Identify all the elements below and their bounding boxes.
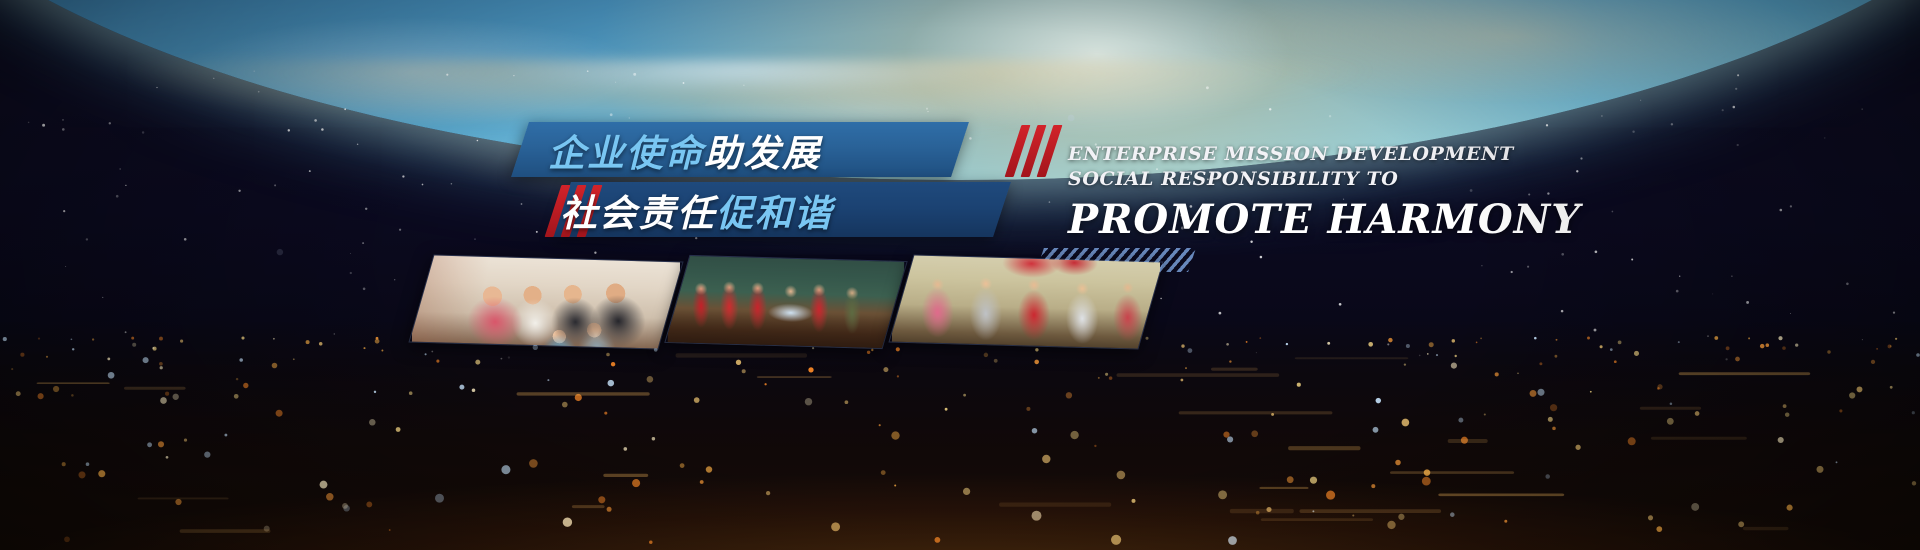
- headline-cn2-white: 社会责任: [560, 183, 716, 237]
- headline-chinese-line-2: 社会责任 促和谐: [560, 182, 833, 237]
- photo-donation-ceremony: [664, 255, 907, 349]
- photo-strip: [420, 258, 1150, 350]
- photo-volunteer-team: [888, 254, 1163, 349]
- headline-cn1-white: 助发展: [704, 123, 821, 177]
- headline-cn2-blue: 促和谐: [716, 183, 833, 237]
- english-subline-2: SOCIAL RESPONSIBILITY TO: [1068, 167, 1581, 192]
- headline-cn1-blue: 企业使命: [548, 123, 704, 177]
- english-headline: PROMOTE HARMONY: [1068, 194, 1581, 246]
- city-lights-layer: [0, 320, 1920, 550]
- photo-family-group-image: [412, 254, 680, 349]
- headline-chinese-line-1: 企业使命 助发展: [548, 122, 821, 177]
- english-text-block: ENTERPRISE MISSION DEVELOPMENT SOCIAL RE…: [1068, 142, 1581, 246]
- city-night-background: [0, 320, 1920, 550]
- photo-donation-ceremony-image: [668, 255, 904, 349]
- photo-family-group: [408, 254, 683, 349]
- banner-root: 企业使命 助发展 社会责任 促和谐 ENTERPRISE MISSION DEV…: [0, 0, 1920, 550]
- english-subline-1: ENTERPRISE MISSION DEVELOPMENT: [1068, 142, 1581, 167]
- photo-volunteer-team-image: [892, 254, 1160, 349]
